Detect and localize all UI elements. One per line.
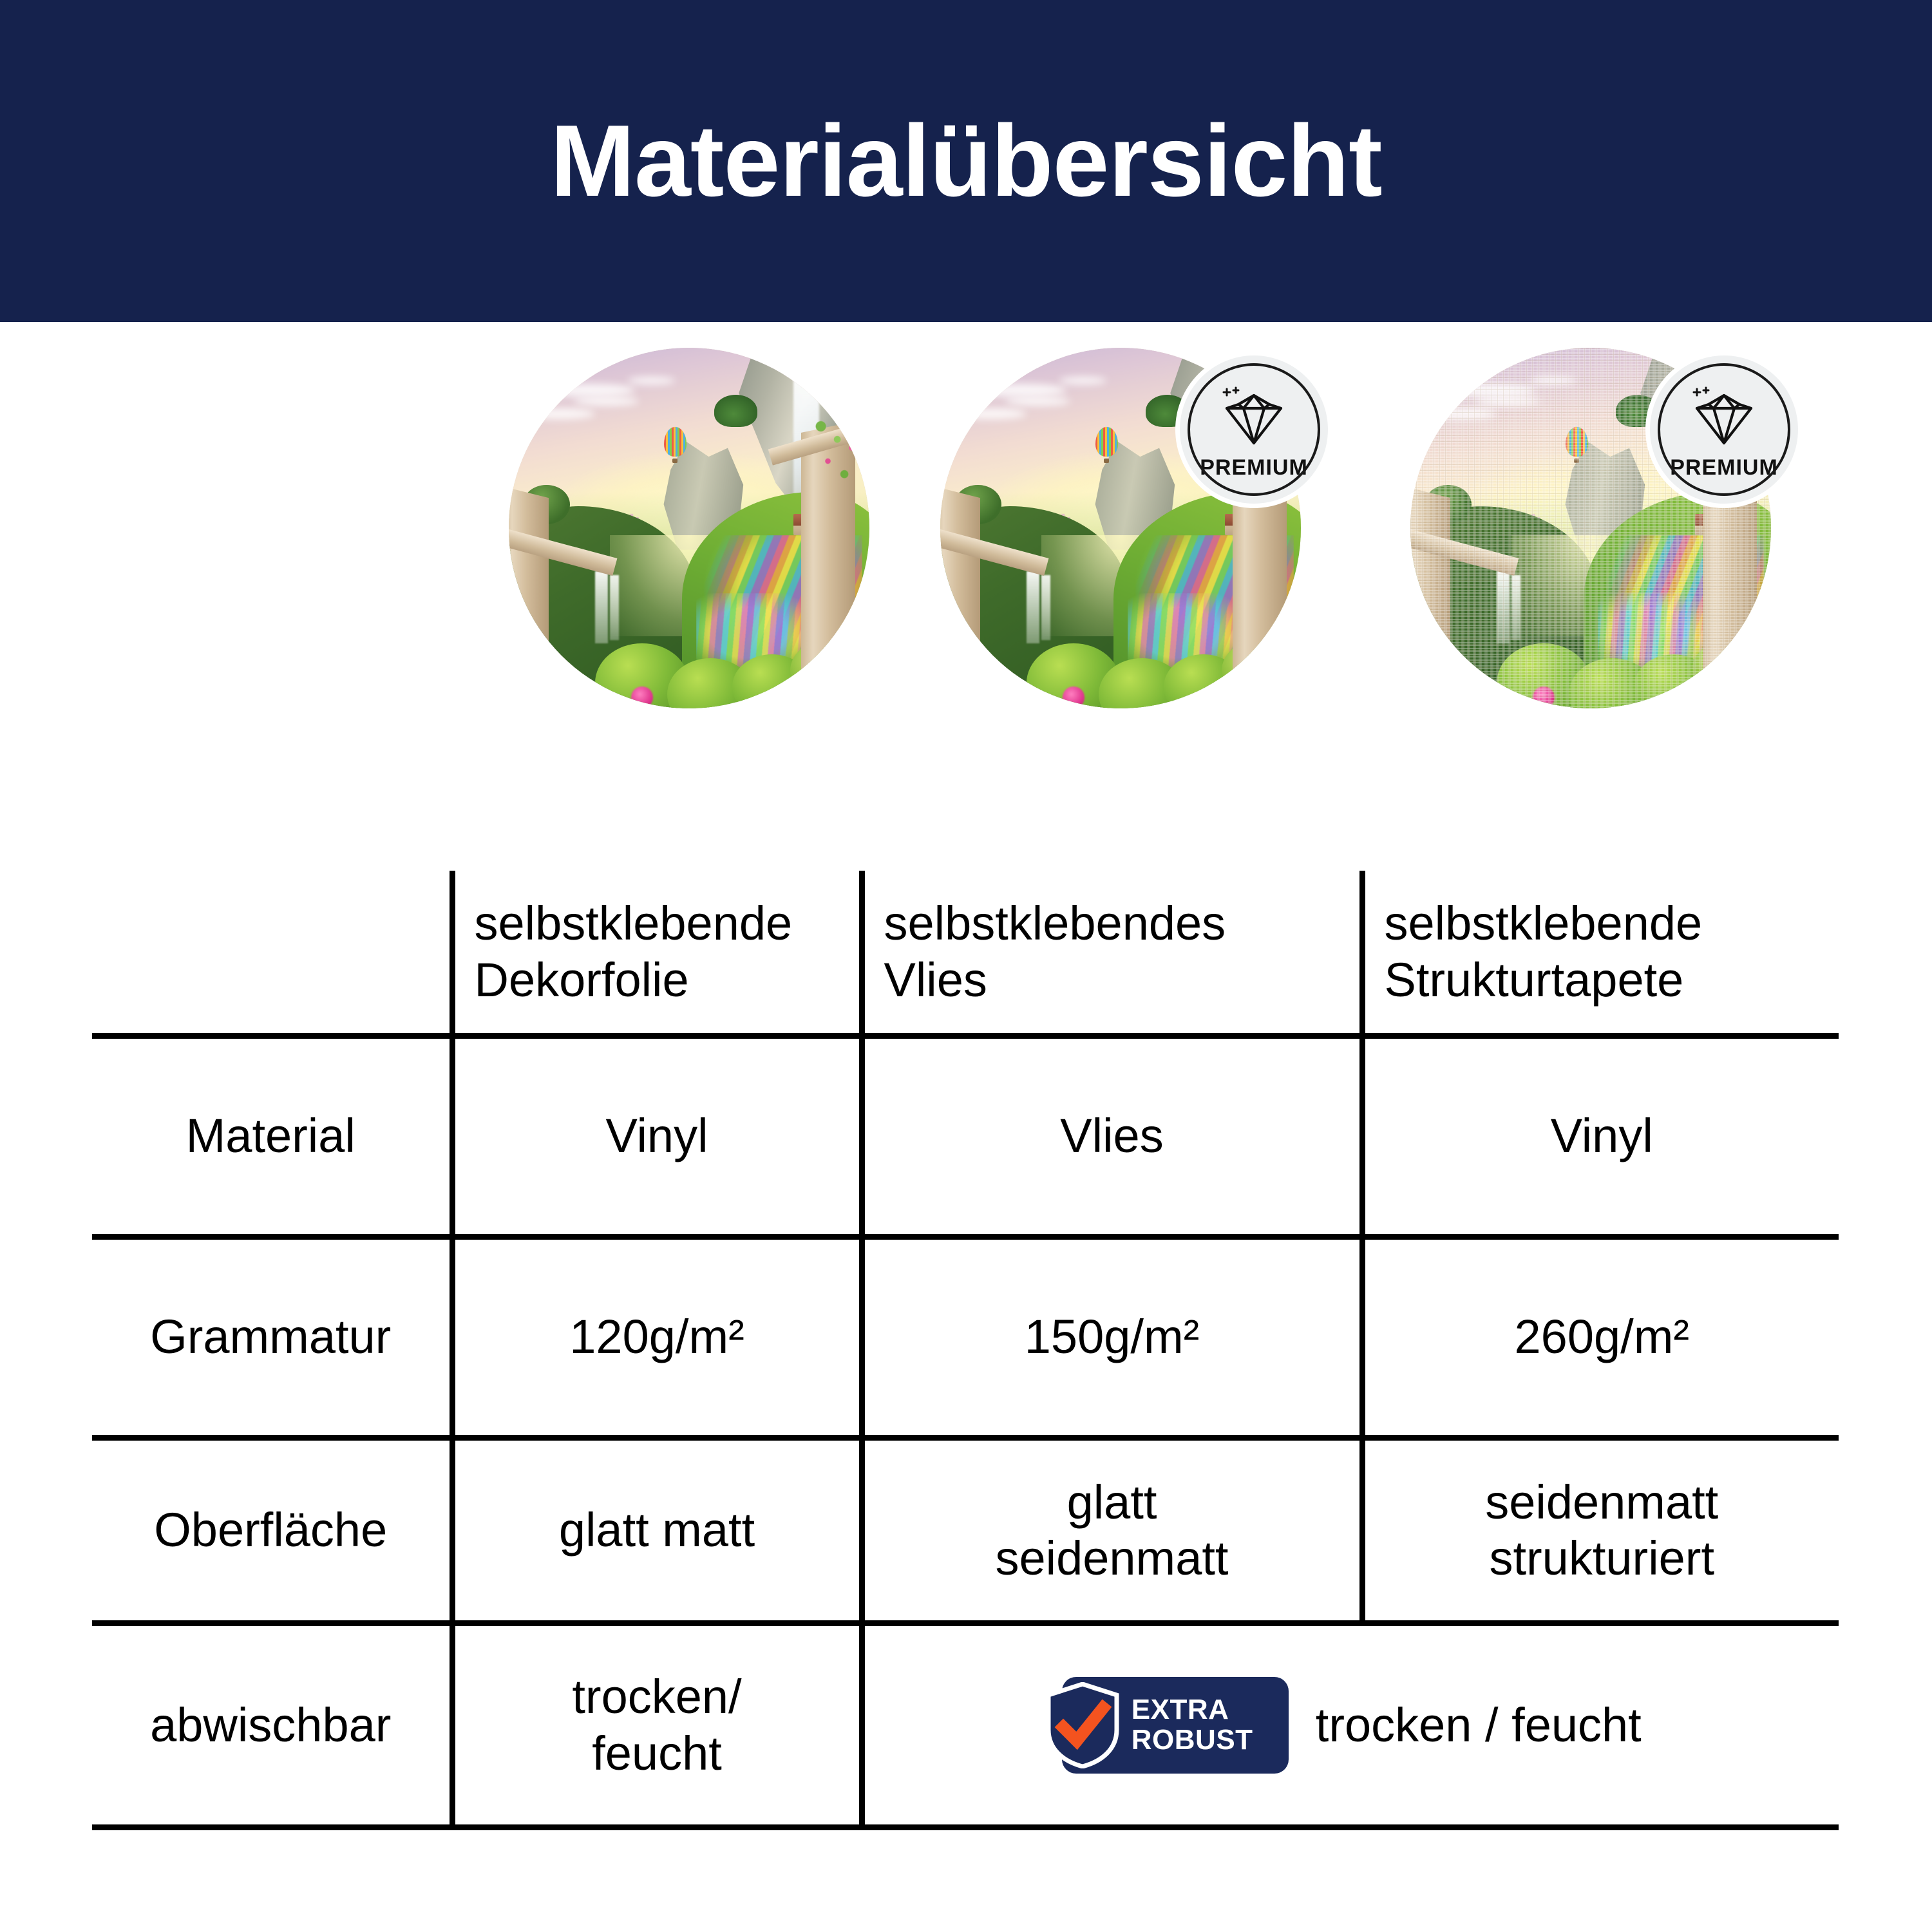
stone-pillar [940,486,980,685]
badge-ring [1658,363,1790,496]
cell-oberflaeche-vlies: glatt seidenmatt [862,1437,1362,1623]
cell-abwischbar-vlies-strukturtapete: EXTRA ROBUST trocken / feucht [862,1623,1839,1827]
column-header-line2: Strukturtapete [1385,953,1684,1007]
extra-robust-line1: EXTRA [1132,1695,1253,1725]
page-header: Materialübersicht [0,0,1932,322]
table-corner-cell [92,871,452,1036]
cell-oberflaeche-strukturtapete: seidenmatt strukturiert [1362,1437,1839,1623]
table-row-material: Material Vinyl Vlies Vinyl [92,1036,1839,1236]
cell-line1: glatt [1067,1475,1157,1529]
row-label-grammatur: Grammatur [92,1236,452,1437]
column-header-vlies: selbstklebendes Vlies [862,871,1362,1036]
row-label-oberflaeche: Oberfläche [92,1437,452,1623]
cell-line2: seidenmatt [996,1531,1229,1585]
stone-pillar [1410,486,1450,685]
product-preview-strukturtapete[interactable]: PREMIUM [1410,348,1771,708]
cell-material-vlies: Vlies [862,1036,1362,1236]
column-header-strukturtapete: selbstklebende Strukturtapete [1362,871,1839,1036]
premium-badge-vlies: PREMIUM [1180,355,1328,504]
shield-check-icon [1044,1682,1121,1768]
table-row-grammatur: Grammatur 120g/m² 150g/m² 260g/m² [92,1236,1839,1437]
cell-abwischbar-dekorfolie: trocken/ feucht [452,1623,862,1827]
climbing-vine [811,409,858,495]
cell-grammatur-vlies: 150g/m² [862,1236,1362,1437]
premium-badge-strukturtapete: PREMIUM [1650,355,1798,504]
column-header-line1: selbstklebendes [884,896,1226,950]
stone-pillar [509,486,549,685]
table-row-oberflaeche: Oberfläche glatt matt glatt seidenmatt s… [92,1437,1839,1623]
column-header-line1: selbstklebende [475,896,793,950]
table-row-abwischbar: abwischbar trocken/ feucht [92,1623,1839,1827]
product-image-dekorfolie [509,348,869,708]
page-title: Materialübersicht [550,110,1381,212]
cell-line1: trocken/ [572,1670,741,1723]
column-header-dekorfolie: selbstklebende Dekorfolie [452,871,862,1036]
extra-robust-label: EXTRA ROBUST [1132,1695,1253,1755]
product-preview-row: PREMIUM [0,348,1932,747]
table-header-row: selbstklebende Dekorfolie selbstklebende… [92,871,1839,1036]
cell-material-dekorfolie: Vinyl [452,1036,862,1236]
extra-robust-badge: EXTRA ROBUST [1062,1677,1289,1774]
cell-line2: feucht [592,1727,722,1780]
material-spec-table: selbstklebende Dekorfolie selbstklebende… [92,871,1839,1830]
cell-line2: strukturiert [1489,1531,1714,1585]
product-preview-vlies[interactable]: PREMIUM [940,348,1301,708]
badge-ring [1188,363,1320,496]
cell-line1: seidenmatt [1485,1475,1718,1529]
column-header-line2: Vlies [884,953,987,1007]
extra-robust-group: EXTRA ROBUST trocken / feucht [873,1677,1832,1774]
column-header-line1: selbstklebende [1385,896,1703,950]
fantasy-landscape-scene [509,348,869,708]
extra-robust-line2: ROBUST [1132,1725,1253,1756]
cell-grammatur-dekorfolie: 120g/m² [452,1236,862,1437]
cell-abwischbar-merged-value: trocken / feucht [1316,1697,1642,1753]
row-label-abwischbar: abwischbar [92,1623,452,1827]
product-preview-dekorfolie[interactable] [509,348,869,708]
cell-oberflaeche-dekorfolie: glatt matt [452,1437,862,1623]
cell-grammatur-strukturtapete: 260g/m² [1362,1236,1839,1437]
cell-material-strukturtapete: Vinyl [1362,1036,1839,1236]
row-label-material: Material [92,1036,452,1236]
column-header-line2: Dekorfolie [475,953,689,1007]
